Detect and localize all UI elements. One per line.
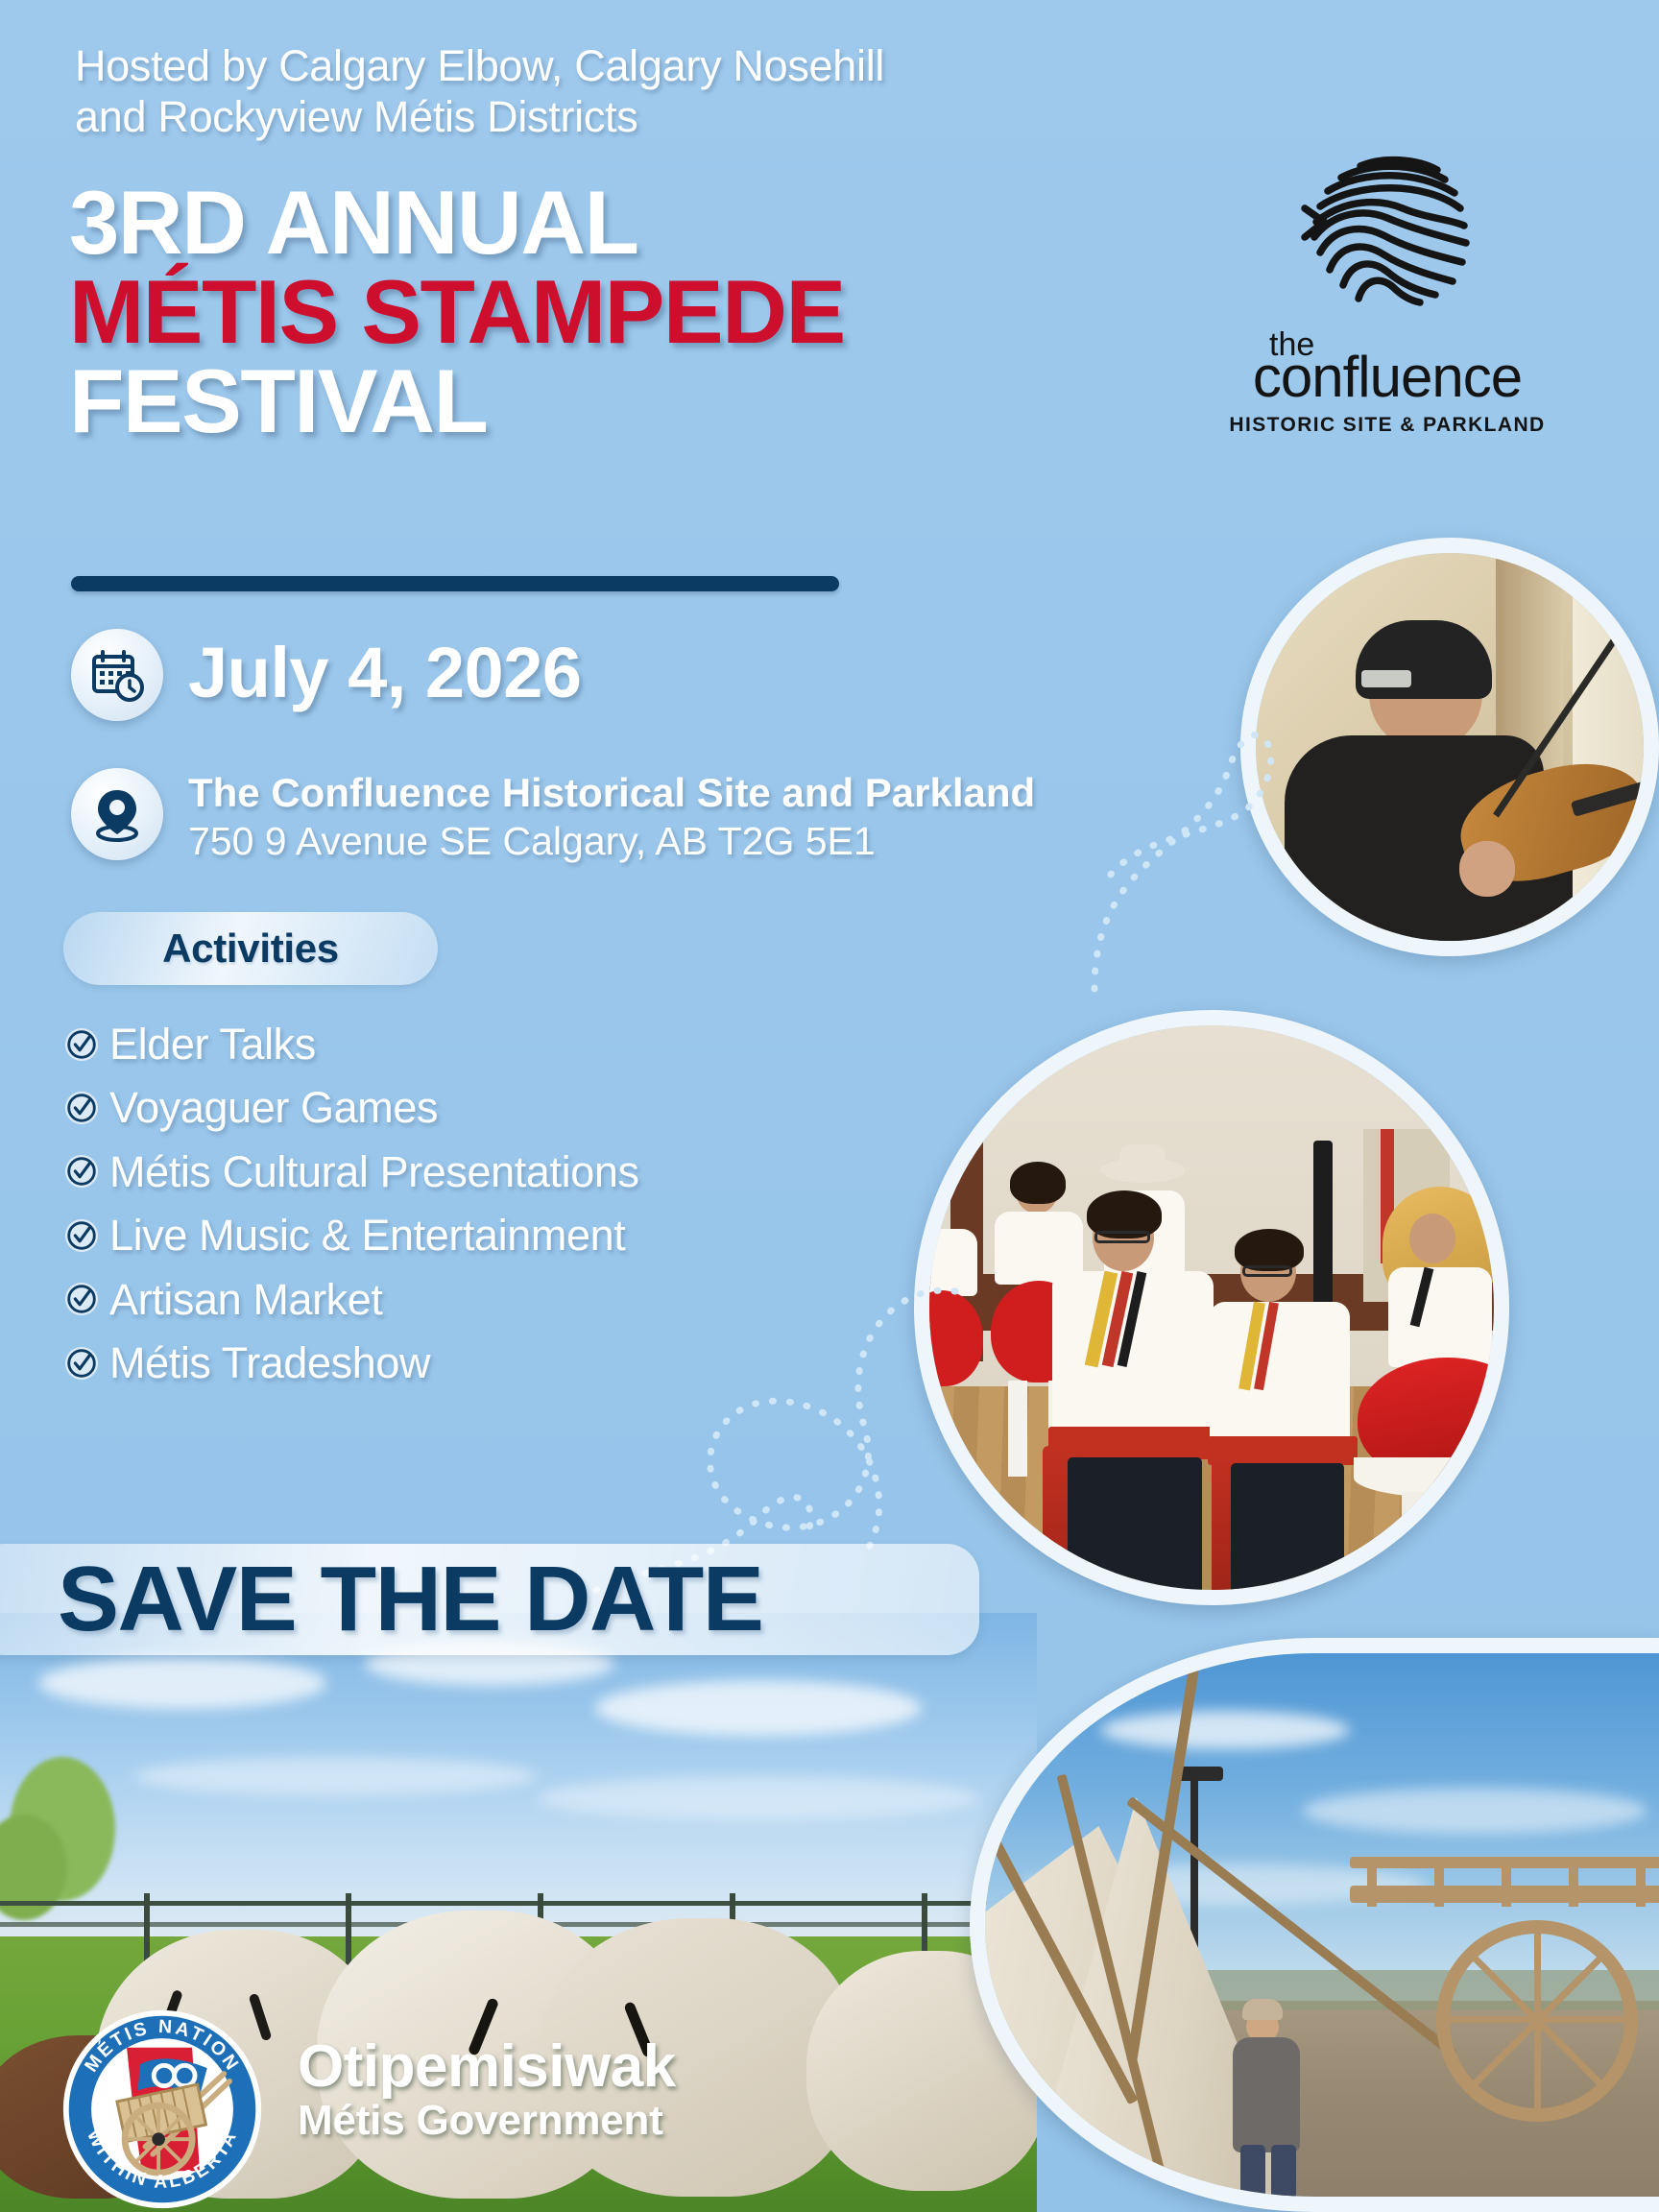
title-line-1: 3RD ANNUAL bbox=[69, 178, 1173, 267]
wordmark-line-1: Otipemisiwak bbox=[298, 2037, 676, 2097]
wordmark-line-2: Métis Government bbox=[298, 2097, 676, 2146]
event-date-row: July 4, 2026 bbox=[71, 629, 582, 721]
activity-label: Métis Tradeshow bbox=[109, 1334, 430, 1391]
list-item: Live Music & Entertainment bbox=[63, 1207, 851, 1263]
check-circle-icon bbox=[63, 1345, 100, 1382]
dancers-photo bbox=[914, 1010, 1509, 1605]
list-item: Métis Tradeshow bbox=[63, 1334, 851, 1391]
check-circle-icon bbox=[63, 1153, 100, 1190]
event-date: July 4, 2026 bbox=[188, 629, 582, 718]
check-circle-icon bbox=[63, 1281, 100, 1317]
map-pin-icon bbox=[71, 768, 163, 860]
title-divider bbox=[71, 576, 839, 591]
confluence-logo: the confluence HISTORIC SITE & PARKLAND bbox=[1200, 149, 1575, 437]
fiddler-photo bbox=[1240, 538, 1659, 956]
title-line-3: FESTIVAL bbox=[69, 356, 1173, 445]
activity-label: Artisan Market bbox=[109, 1271, 382, 1328]
confluence-wordmark: confluence bbox=[1200, 354, 1575, 400]
hosted-by-line-1: Hosted by Calgary Elbow, Calgary Nosehil… bbox=[75, 40, 1150, 91]
list-item: Métis Cultural Presentations bbox=[63, 1143, 851, 1200]
hosted-by-block: Hosted by Calgary Elbow, Calgary Nosehil… bbox=[75, 40, 1150, 142]
activities-heading-pill: Activities bbox=[63, 912, 438, 985]
confluence-tagline: HISTORIC SITE & PARKLAND bbox=[1200, 414, 1575, 437]
list-item: Artisan Market bbox=[63, 1271, 851, 1328]
activity-label: Voyaguer Games bbox=[109, 1079, 438, 1136]
list-item: Voyaguer Games bbox=[63, 1079, 851, 1136]
venue-address: 750 9 Avenue SE Calgary, AB T2G 5E1 bbox=[188, 817, 1035, 866]
page-title: 3RD ANNUAL MÉTIS STAMPEDE FESTIVAL bbox=[69, 178, 1173, 445]
metis-government-wordmark: Otipemisiwak Métis Government bbox=[298, 2037, 676, 2146]
save-the-date-text: SAVE THE DATE bbox=[0, 1547, 762, 1652]
calendar-clock-icon bbox=[71, 629, 163, 721]
activities-heading: Activities bbox=[162, 926, 339, 972]
save-the-date-banner: SAVE THE DATE bbox=[0, 1544, 979, 1655]
activity-label: Métis Cultural Presentations bbox=[109, 1143, 639, 1200]
activity-label: Elder Talks bbox=[109, 1016, 316, 1072]
metis-nation-badge-logo: MÉTIS NATION WITHIN ALBERTA bbox=[60, 2007, 265, 2212]
event-location-row: The Confluence Historical Site and Parkl… bbox=[71, 768, 1035, 866]
venue-name: The Confluence Historical Site and Parkl… bbox=[188, 768, 1035, 817]
tipi-photo bbox=[970, 1638, 1659, 2212]
fingerprint-ridges-icon bbox=[1291, 149, 1483, 317]
check-circle-icon bbox=[63, 1026, 100, 1063]
activity-label: Live Music & Entertainment bbox=[109, 1207, 625, 1263]
activities-list: Elder Talks Voyaguer Games Métis Cultura… bbox=[63, 1016, 851, 1398]
poster-root: SAVE THE DATE bbox=[0, 0, 1659, 2212]
list-item: Elder Talks bbox=[63, 1016, 851, 1072]
hosted-by-line-2: and Rockyview Métis Districts bbox=[75, 91, 1150, 142]
check-circle-icon bbox=[63, 1217, 100, 1254]
title-line-2: MÉTIS STAMPEDE bbox=[69, 267, 1173, 356]
check-circle-icon bbox=[63, 1090, 100, 1126]
